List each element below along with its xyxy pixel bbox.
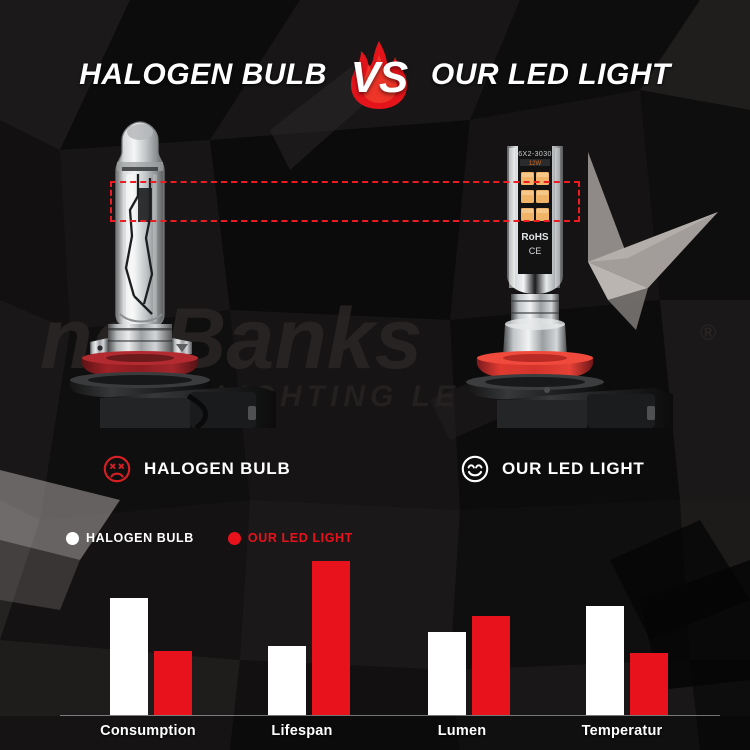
chart-category-label-lifespan: Lifespan — [271, 723, 332, 739]
happy-face-icon — [461, 455, 489, 483]
bar-led-temperatur — [630, 653, 668, 715]
bar-led-consumption — [154, 651, 192, 715]
led-ce-mark: CE — [529, 246, 542, 256]
bar-led-lumen — [472, 616, 510, 715]
header-left-title: HALOGEN BULB — [79, 58, 327, 92]
led-caption-label: OUR LED LIGHT — [502, 459, 645, 479]
led-caption-row: OUR LED LIGHT — [461, 455, 645, 483]
chart-category-label-consumption: Consumption — [100, 723, 196, 739]
sad-face-icon — [103, 455, 131, 483]
bar-halogen-consumption — [110, 598, 148, 715]
led-chip-power-text: 12W — [529, 161, 542, 167]
bar-halogen-lumen — [428, 632, 466, 715]
legend-dot-halogen — [66, 532, 79, 545]
bar-led-lifespan — [312, 561, 350, 715]
comparison-bar-chart: ConsumptionLifespanLumenTemperatur — [0, 555, 750, 750]
chart-category-label-temperatur: Temperatur — [582, 723, 663, 739]
legend-label-halogen: HALOGEN BULB — [86, 531, 194, 545]
infographic-page: ne Banks ® LIGHTING LE HALOGEN BULB VS O… — [0, 0, 750, 750]
led-bulb-image: 6X2-3030 12W RoHS CE — [455, 118, 705, 428]
halogen-caption-row: HALOGEN BULB — [103, 455, 291, 483]
vs-badge: VS — [327, 39, 431, 111]
halogen-bulb-image — [60, 118, 310, 428]
legend-item-led: OUR LED LIGHT — [228, 531, 353, 545]
led-rohs-mark: RoHS — [521, 232, 549, 243]
chart-bars-layer — [0, 555, 750, 715]
bar-halogen-lifespan — [268, 646, 306, 715]
bar-halogen-temperatur — [586, 606, 624, 715]
led-chip-code-text: 6X2-3030 — [518, 151, 552, 158]
legend-item-halogen: HALOGEN BULB — [66, 531, 194, 545]
chart-legend: HALOGEN BULB OUR LED LIGHT — [66, 531, 353, 545]
legend-dot-led — [228, 532, 241, 545]
chart-category-label-lumen: Lumen — [438, 723, 487, 739]
legend-label-led: OUR LED LIGHT — [248, 531, 353, 545]
vs-label: VS — [351, 53, 408, 103]
header-right-title: OUR LED LIGHT — [431, 58, 671, 92]
halogen-caption-label: HALOGEN BULB — [144, 459, 291, 479]
chart-baseline-axis — [60, 715, 720, 716]
header-title-bar: HALOGEN BULB VS OUR LED LIGHT — [0, 44, 750, 106]
